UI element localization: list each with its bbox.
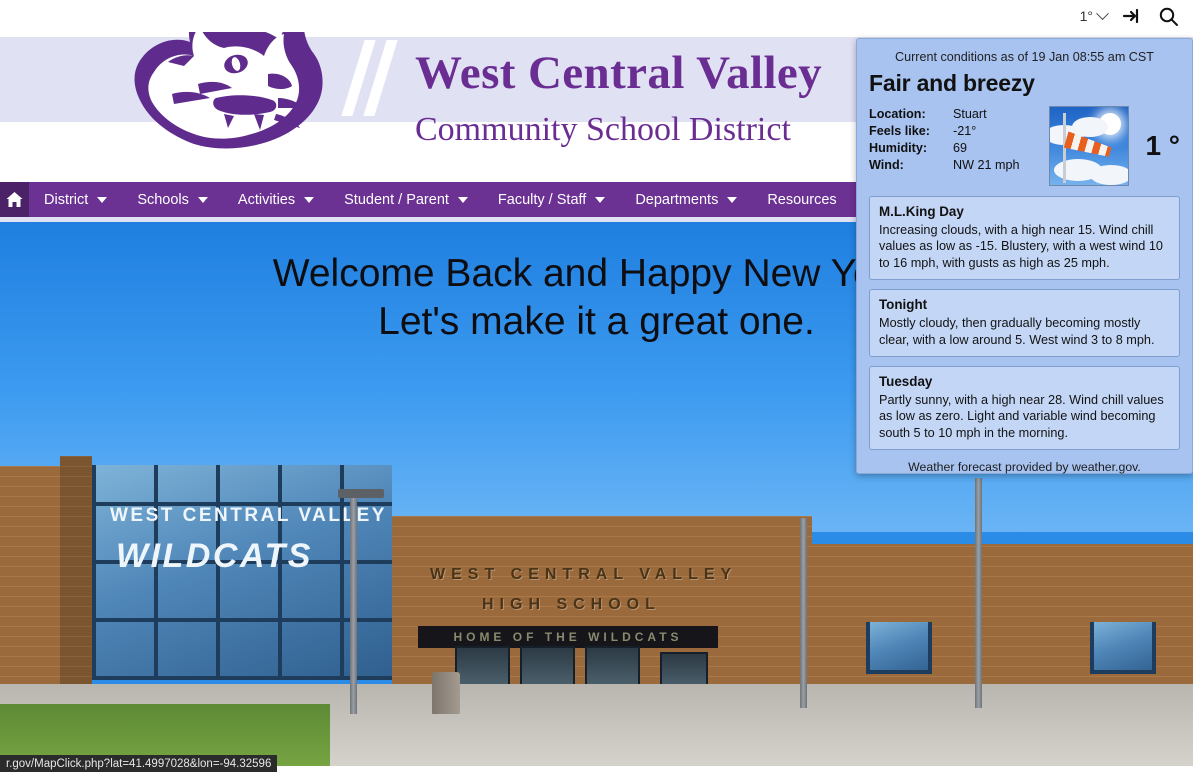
trash-receptacle: [432, 672, 460, 714]
chevron-down-icon: [304, 197, 314, 203]
light-pole-left: [350, 494, 357, 714]
light-fixture-left: [338, 489, 384, 498]
forecast-description: Partly sunny, with a high near 28. Wind …: [879, 392, 1170, 441]
detail-key: Feels like:: [869, 123, 953, 140]
nav-item-schools[interactable]: Schools: [122, 182, 223, 217]
school-building-photo: WEST CENTRAL VALLEY WILDCATS WEST CENTRA…: [0, 436, 1193, 766]
forecast-day: Tonight: [879, 297, 1170, 315]
forecast-day: M.L.King Day: [879, 204, 1170, 222]
weather-as-of: Current conditions as of 19 Jan 08:55 am…: [869, 47, 1180, 70]
mural-line-2: WILDCATS: [116, 537, 313, 576]
chevron-down-icon: [727, 197, 737, 203]
window-right-a: [866, 622, 932, 674]
utility-bar: 1°: [0, 0, 1193, 32]
chevron-down-icon: [97, 197, 107, 203]
detail-value: Stuart: [953, 106, 987, 123]
weather-detail-humidity: Humidity: 69: [869, 140, 1039, 157]
nav-item-activities[interactable]: Activities: [223, 182, 329, 217]
forecast-card-mlk-day: M.L.King Day Increasing clouds, with a h…: [869, 196, 1180, 280]
browser-status-bar: r.gov/MapClick.php?lat=41.4997028&lon=-9…: [0, 755, 277, 772]
nav-label: Resources: [767, 192, 836, 208]
entry-banner: HOME OF THE WILDCATS: [418, 626, 718, 648]
nav-item-district[interactable]: District: [29, 182, 122, 217]
windsock-sunny-icon: [1049, 106, 1129, 186]
weather-detail-location: Location: Stuart: [869, 106, 1039, 123]
nav-label: Schools: [137, 192, 189, 208]
detail-value: 69: [953, 140, 967, 157]
forecast-day: Tuesday: [879, 374, 1170, 392]
wall-sign-line-2: HIGH SCHOOL: [482, 596, 661, 614]
weather-current: Location: Stuart Feels like: -21° Humidi…: [869, 106, 1180, 196]
nav-label: District: [44, 192, 88, 208]
cloud-glyph: [1072, 117, 1108, 137]
nav-item-student-parent[interactable]: Student / Parent: [329, 182, 483, 217]
weather-condition: Fair and breezy: [869, 70, 1180, 106]
weather-details: Location: Stuart Feels like: -21° Humidi…: [869, 106, 1039, 174]
page-subtitle: Community School District: [415, 108, 822, 152]
chevron-down-icon: [458, 197, 468, 203]
chevron-down-icon: [595, 197, 605, 203]
detail-key: Wind:: [869, 157, 953, 174]
page-title: West Central Valley: [415, 34, 822, 112]
detail-key: Humidity:: [869, 140, 953, 157]
nav-item-faculty-staff[interactable]: Faculty / Staff: [483, 182, 620, 217]
light-pole-far-right: [975, 478, 982, 708]
temperature-value: 1°: [1080, 8, 1093, 24]
light-pole-right: [800, 518, 807, 708]
nav-label: Departments: [635, 192, 718, 208]
weather-detail-wind: Wind: NW 21 mph: [869, 157, 1039, 174]
nav-item-departments[interactable]: Departments: [620, 182, 752, 217]
temperature-toggle[interactable]: 1°: [1080, 8, 1107, 24]
search-icon[interactable]: [1157, 5, 1179, 27]
weather-panel[interactable]: Current conditions as of 19 Jan 08:55 am…: [856, 38, 1193, 474]
chevron-down-icon: [1096, 7, 1109, 20]
nav-label: Student / Parent: [344, 192, 449, 208]
forecast-card-tonight: Tonight Mostly cloudy, then gradually be…: [869, 289, 1180, 357]
detail-key: Location:: [869, 106, 953, 123]
detail-value: -21°: [953, 123, 976, 140]
home-icon[interactable]: [0, 182, 29, 217]
weather-temperature: 1 °: [1139, 130, 1180, 162]
status-url: r.gov/MapClick.php?lat=41.4997028&lon=-9…: [6, 758, 271, 770]
window-right-b: [1090, 622, 1156, 674]
forecast-description: Increasing clouds, with a high near 15. …: [879, 222, 1170, 271]
weather-credit: Weather forecast provided by weather.gov…: [869, 459, 1180, 474]
nav-item-resources[interactable]: Resources: [752, 182, 851, 217]
chevron-down-icon: [198, 197, 208, 203]
nav-label: Faculty / Staff: [498, 192, 586, 208]
detail-value: NW 21 mph: [953, 157, 1020, 174]
cloud-glyph: [1090, 165, 1129, 185]
nav-label: Activities: [238, 192, 295, 208]
weather-detail-feels-like: Feels like: -21°: [869, 123, 1039, 140]
forecast-card-tuesday: Tuesday Partly sunny, with a high near 2…: [869, 366, 1180, 450]
wall-sign-line-1: WEST CENTRAL VALLEY: [430, 566, 737, 584]
brand-title: West Central Valley Community School Dis…: [415, 34, 822, 152]
slash-decoration: [345, 40, 405, 116]
forecast-description: Mostly cloudy, then gradually becoming m…: [879, 315, 1170, 348]
page-root: 1°: [0, 0, 1193, 772]
mural-line-1: WEST CENTRAL VALLEY: [110, 505, 387, 527]
login-icon[interactable]: [1121, 5, 1143, 27]
